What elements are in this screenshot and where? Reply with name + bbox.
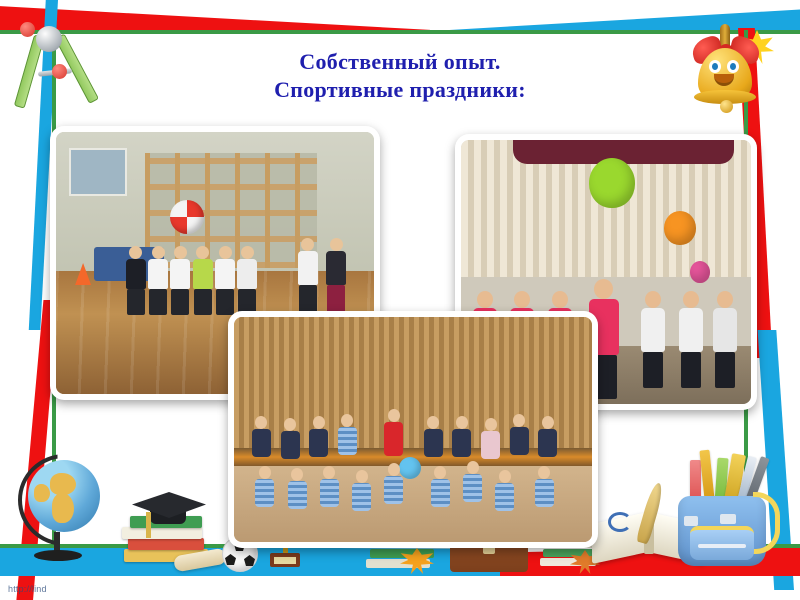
pupil-head bbox=[538, 466, 550, 479]
pupil-figure bbox=[510, 414, 529, 455]
adult-body bbox=[326, 251, 346, 285]
gym-window bbox=[69, 148, 127, 197]
child-head bbox=[174, 246, 187, 259]
bell-clapper bbox=[720, 100, 733, 113]
pupil-head bbox=[291, 468, 303, 481]
girl-head bbox=[514, 291, 530, 308]
backpack-pocket bbox=[690, 526, 754, 560]
pupil-body bbox=[452, 429, 471, 457]
child-head bbox=[129, 246, 142, 259]
backpack-strap bbox=[753, 492, 780, 554]
pupil-head bbox=[259, 466, 271, 479]
pupil-figure bbox=[281, 418, 300, 459]
pupil-figure bbox=[424, 416, 443, 457]
girl-body bbox=[679, 308, 703, 352]
pupil-head bbox=[356, 470, 368, 483]
pupil-body bbox=[510, 427, 529, 455]
girl-head bbox=[552, 291, 568, 308]
adult-body bbox=[298, 251, 318, 285]
girl-figure bbox=[679, 291, 703, 388]
compass-knob bbox=[20, 22, 35, 37]
child-legs bbox=[149, 289, 167, 315]
child-legs bbox=[216, 289, 234, 315]
girl-head bbox=[683, 291, 699, 308]
book bbox=[543, 549, 599, 557]
pupil-figure bbox=[252, 416, 271, 457]
pupil-figure bbox=[463, 461, 482, 502]
teacher-figure bbox=[384, 409, 403, 456]
bookmark-icon bbox=[608, 512, 632, 532]
pupil-body bbox=[288, 481, 307, 509]
pupil-head bbox=[255, 416, 267, 429]
pupil-body bbox=[338, 427, 357, 455]
adult-head bbox=[301, 238, 314, 251]
girl-figure bbox=[641, 291, 665, 388]
pupil-body bbox=[481, 431, 500, 459]
girl-head bbox=[594, 279, 613, 299]
pupil-body bbox=[255, 479, 274, 507]
compass-icon bbox=[18, 22, 98, 117]
child-body bbox=[237, 259, 257, 289]
child-head bbox=[241, 246, 254, 259]
girl-legs bbox=[715, 352, 735, 388]
girl-body bbox=[641, 308, 665, 352]
pupil-body bbox=[252, 429, 271, 457]
pupil-head bbox=[485, 418, 497, 431]
pupil-body bbox=[309, 429, 328, 457]
pupil-head bbox=[323, 466, 335, 479]
school-bell-icon bbox=[676, 12, 772, 122]
cap-tassel bbox=[146, 512, 151, 538]
trophy-plate bbox=[274, 557, 296, 564]
girl-head bbox=[477, 291, 493, 308]
pupil-figure bbox=[384, 463, 403, 504]
graduation-cap-icon bbox=[116, 476, 226, 564]
pupil-body bbox=[463, 474, 482, 502]
pupil-body bbox=[431, 479, 450, 507]
photo-group-stage bbox=[228, 311, 598, 548]
child-head bbox=[196, 246, 209, 259]
girl-body bbox=[713, 308, 737, 352]
bell-eye bbox=[727, 60, 739, 73]
pupil-body bbox=[495, 483, 514, 511]
pupil-figure bbox=[320, 466, 339, 507]
ball-panel bbox=[244, 555, 255, 566]
green-balloon bbox=[589, 158, 635, 208]
backpack-clip bbox=[684, 516, 698, 526]
pupil-head bbox=[427, 416, 439, 429]
pupil-body bbox=[424, 429, 443, 457]
child-figure bbox=[215, 246, 235, 315]
teacher-head bbox=[388, 409, 400, 422]
pupil-figure bbox=[495, 470, 514, 511]
child-legs bbox=[171, 289, 189, 315]
pupil-head bbox=[434, 466, 446, 479]
pupil-head bbox=[513, 414, 525, 427]
globe-base bbox=[34, 550, 82, 561]
pupil-body bbox=[320, 479, 339, 507]
girl-head bbox=[717, 291, 733, 308]
pupil-figure bbox=[535, 466, 554, 507]
book bbox=[128, 538, 204, 550]
child-legs bbox=[194, 289, 212, 315]
pupil-figure bbox=[255, 466, 274, 507]
child-body bbox=[193, 259, 213, 289]
pupil-head bbox=[313, 416, 325, 429]
child-figure bbox=[237, 246, 257, 315]
photo-group-stage-image bbox=[234, 317, 592, 542]
slide: Собственный опыт. Спортивные праздники: bbox=[0, 0, 800, 600]
pupil-figure bbox=[538, 416, 557, 457]
girl-legs bbox=[643, 352, 663, 388]
pupil-head bbox=[456, 416, 468, 429]
cap-board bbox=[132, 492, 206, 518]
adult-figure bbox=[326, 238, 346, 315]
pupil-body bbox=[535, 479, 554, 507]
backpack-zipper bbox=[698, 544, 746, 548]
pupil-body bbox=[352, 483, 371, 511]
child-figure bbox=[193, 246, 213, 315]
child-body bbox=[148, 259, 168, 289]
child-body bbox=[170, 259, 190, 289]
pupil-figure bbox=[431, 466, 450, 507]
orange-balloon bbox=[664, 211, 696, 245]
pupil-body bbox=[281, 431, 300, 459]
pupil-figure bbox=[338, 414, 357, 455]
watermark: http://lind bbox=[8, 584, 47, 594]
book bbox=[122, 527, 202, 539]
child-head bbox=[152, 246, 165, 259]
pupil-figure bbox=[481, 418, 500, 459]
pupil-head bbox=[284, 418, 296, 431]
child-body bbox=[126, 259, 146, 289]
pupil-figure bbox=[452, 416, 471, 457]
teacher-body bbox=[384, 422, 403, 456]
adult-head bbox=[330, 238, 343, 251]
pupil-figure bbox=[288, 468, 307, 509]
pupil-head bbox=[499, 470, 511, 483]
pupil-figure bbox=[352, 470, 371, 511]
backpack-icon bbox=[664, 446, 782, 566]
adult-figure bbox=[298, 238, 318, 315]
child-figure bbox=[148, 246, 168, 315]
pencil-icon bbox=[699, 450, 714, 501]
girl-head bbox=[645, 291, 661, 308]
bell-eye bbox=[709, 60, 721, 73]
pupil-head bbox=[388, 463, 400, 476]
globe-icon bbox=[10, 448, 114, 568]
child-head bbox=[219, 246, 232, 259]
child-figure bbox=[170, 246, 190, 315]
pupil-figure bbox=[309, 416, 328, 457]
girl-figure bbox=[713, 291, 737, 388]
child-figure bbox=[126, 246, 146, 315]
child-legs bbox=[127, 289, 145, 315]
hall-valance bbox=[513, 140, 733, 164]
ball-panel bbox=[225, 554, 236, 565]
child-body bbox=[215, 259, 235, 289]
girl-legs bbox=[681, 352, 701, 388]
compass-hub bbox=[36, 26, 62, 52]
pupil-head bbox=[467, 461, 479, 474]
pupil-head bbox=[542, 416, 554, 429]
pupil-head bbox=[341, 414, 353, 427]
pupil-body bbox=[538, 429, 557, 457]
compass-knob bbox=[52, 64, 67, 79]
backpack-clip bbox=[720, 514, 736, 524]
pupil-body bbox=[384, 476, 403, 504]
